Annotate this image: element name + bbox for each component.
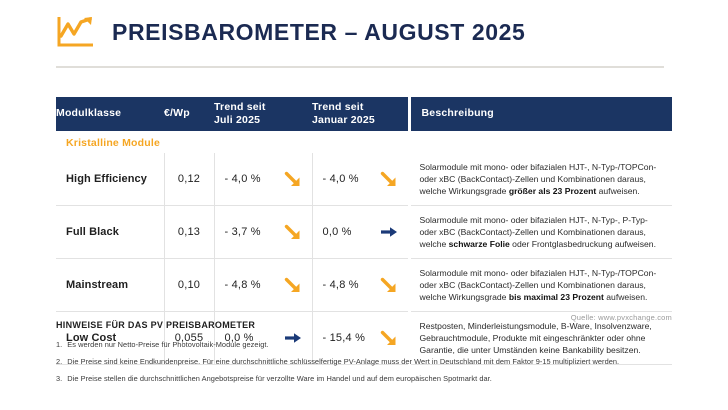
cell-beschreibung: Solarmodule mit mono- oder bifazialen HJ… — [409, 153, 672, 206]
cell-trend-january: - 4,0 % — [312, 153, 409, 206]
description-highlight: größer als 23 Prozent — [509, 186, 596, 196]
table-group-row: Kristalline Module — [56, 131, 672, 153]
note-item: 1.Es werden nur Netto-Preise für Photovo… — [56, 339, 672, 350]
trend-value: - 4,0 % — [225, 173, 261, 185]
notes-title: HINWEISE FÜR DAS PV PREISBAROMETER — [56, 320, 672, 330]
header-divider — [56, 66, 664, 68]
trend-wrapper: - 4,0 % — [225, 171, 302, 187]
trend-wrapper: - 4,8 % — [225, 277, 302, 293]
cell-modulklasse: High Efficiency — [56, 153, 164, 206]
table-row: Mainstream0,10- 4,8 %- 4,8 %Solarmodule … — [56, 259, 672, 312]
cell-trend-july: - 3,7 % — [214, 206, 312, 259]
arrow-down-right-icon — [380, 277, 398, 293]
header: PREISBAROMETER – AUGUST 2025 — [56, 14, 525, 50]
arrow-down-right-icon — [284, 171, 302, 187]
col-header-price: €/Wp — [164, 97, 214, 131]
page-title: PREISBAROMETER – AUGUST 2025 — [112, 19, 525, 46]
note-item: 2.Die Preise sind keine Endkundenpreise.… — [56, 356, 672, 367]
cell-price: 0,10 — [164, 259, 214, 312]
description-text-tail: oder Frontglasbedruckung aufweisen. — [510, 239, 656, 249]
col-header-trend-july: Trend seit Juli 2025 — [214, 97, 312, 131]
cell-trend-july: - 4,0 % — [214, 153, 312, 206]
trend-value: - 4,0 % — [323, 173, 359, 185]
trend-value: - 4,8 % — [323, 279, 359, 291]
arrow-down-right-icon — [284, 224, 302, 240]
arrow-down-right-icon — [284, 277, 302, 293]
cell-trend-january: 0,0 % — [312, 206, 409, 259]
trend-wrapper: - 4,8 % — [323, 277, 398, 293]
cell-modulklasse: Mainstream — [56, 259, 164, 312]
trend-value: - 4,8 % — [225, 279, 261, 291]
trend-value: - 3,7 % — [225, 226, 261, 238]
description-highlight: bis maximal 23 Prozent — [509, 292, 604, 302]
cell-modulklasse: Full Black — [56, 206, 164, 259]
cell-beschreibung: Solarmodule mit mono- oder bifazialen HJ… — [409, 206, 672, 259]
note-item: 3.Die Preise stellen die durchschnittlic… — [56, 373, 672, 384]
table-header: Modulklasse €/Wp Trend seit Juli 2025 Tr… — [56, 97, 672, 131]
col-header-trend-january: Trend seit Januar 2025 — [312, 97, 409, 131]
line-chart-up-icon — [56, 14, 96, 50]
table-group-label: Kristalline Module — [56, 131, 672, 153]
notes-section: HINWEISE FÜR DAS PV PREISBAROMETER 1.Es … — [56, 320, 672, 390]
cell-price: 0,12 — [164, 153, 214, 206]
description-text-tail: aufweisen. — [604, 292, 647, 302]
trend-wrapper: - 3,7 % — [225, 224, 302, 240]
table-header-row: Modulklasse €/Wp Trend seit Juli 2025 Tr… — [56, 97, 672, 131]
note-text: Die Preise sind keine Endkundenpreise. F… — [67, 356, 619, 367]
col-header-trend-january-line2: Januar 2025 — [312, 114, 375, 126]
cell-trend-july: - 4,8 % — [214, 259, 312, 312]
table-row: Full Black0,13- 3,7 %0,0 %Solarmodule mi… — [56, 206, 672, 259]
note-text: Es werden nur Netto-Preise für Photovolt… — [67, 339, 268, 350]
arrow-right-icon — [380, 224, 398, 240]
col-header-trend-july-line2: Juli 2025 — [214, 114, 260, 126]
trend-value: 0,0 % — [323, 226, 352, 238]
table-row: High Efficiency0,12- 4,0 %- 4,0 %Solarmo… — [56, 153, 672, 206]
preisbarometer-slide: PREISBAROMETER – AUGUST 2025 Modulklasse… — [0, 0, 728, 410]
note-number: 1. — [56, 339, 62, 350]
cell-beschreibung: Solarmodule mit mono- oder bifazialen HJ… — [409, 259, 672, 312]
description-text-tail: aufweisen. — [596, 186, 639, 196]
note-number: 2. — [56, 356, 62, 367]
notes-list: 1.Es werden nur Netto-Preise für Photovo… — [56, 339, 672, 384]
note-text: Die Preise stellen die durchschnittliche… — [67, 373, 492, 384]
col-header-modulklasse: Modulklasse — [56, 97, 164, 131]
arrow-down-right-icon — [380, 171, 398, 187]
trend-wrapper: - 4,0 % — [323, 171, 398, 187]
note-number: 3. — [56, 373, 62, 384]
col-header-trend-january-line1: Trend seit — [312, 101, 364, 113]
cell-price: 0,13 — [164, 206, 214, 259]
trend-wrapper: 0,0 % — [323, 224, 398, 240]
col-header-beschreibung: Beschreibung — [409, 97, 672, 131]
cell-trend-january: - 4,8 % — [312, 259, 409, 312]
col-header-trend-july-line1: Trend seit — [214, 101, 266, 113]
description-highlight: schwarze Folie — [449, 239, 510, 249]
